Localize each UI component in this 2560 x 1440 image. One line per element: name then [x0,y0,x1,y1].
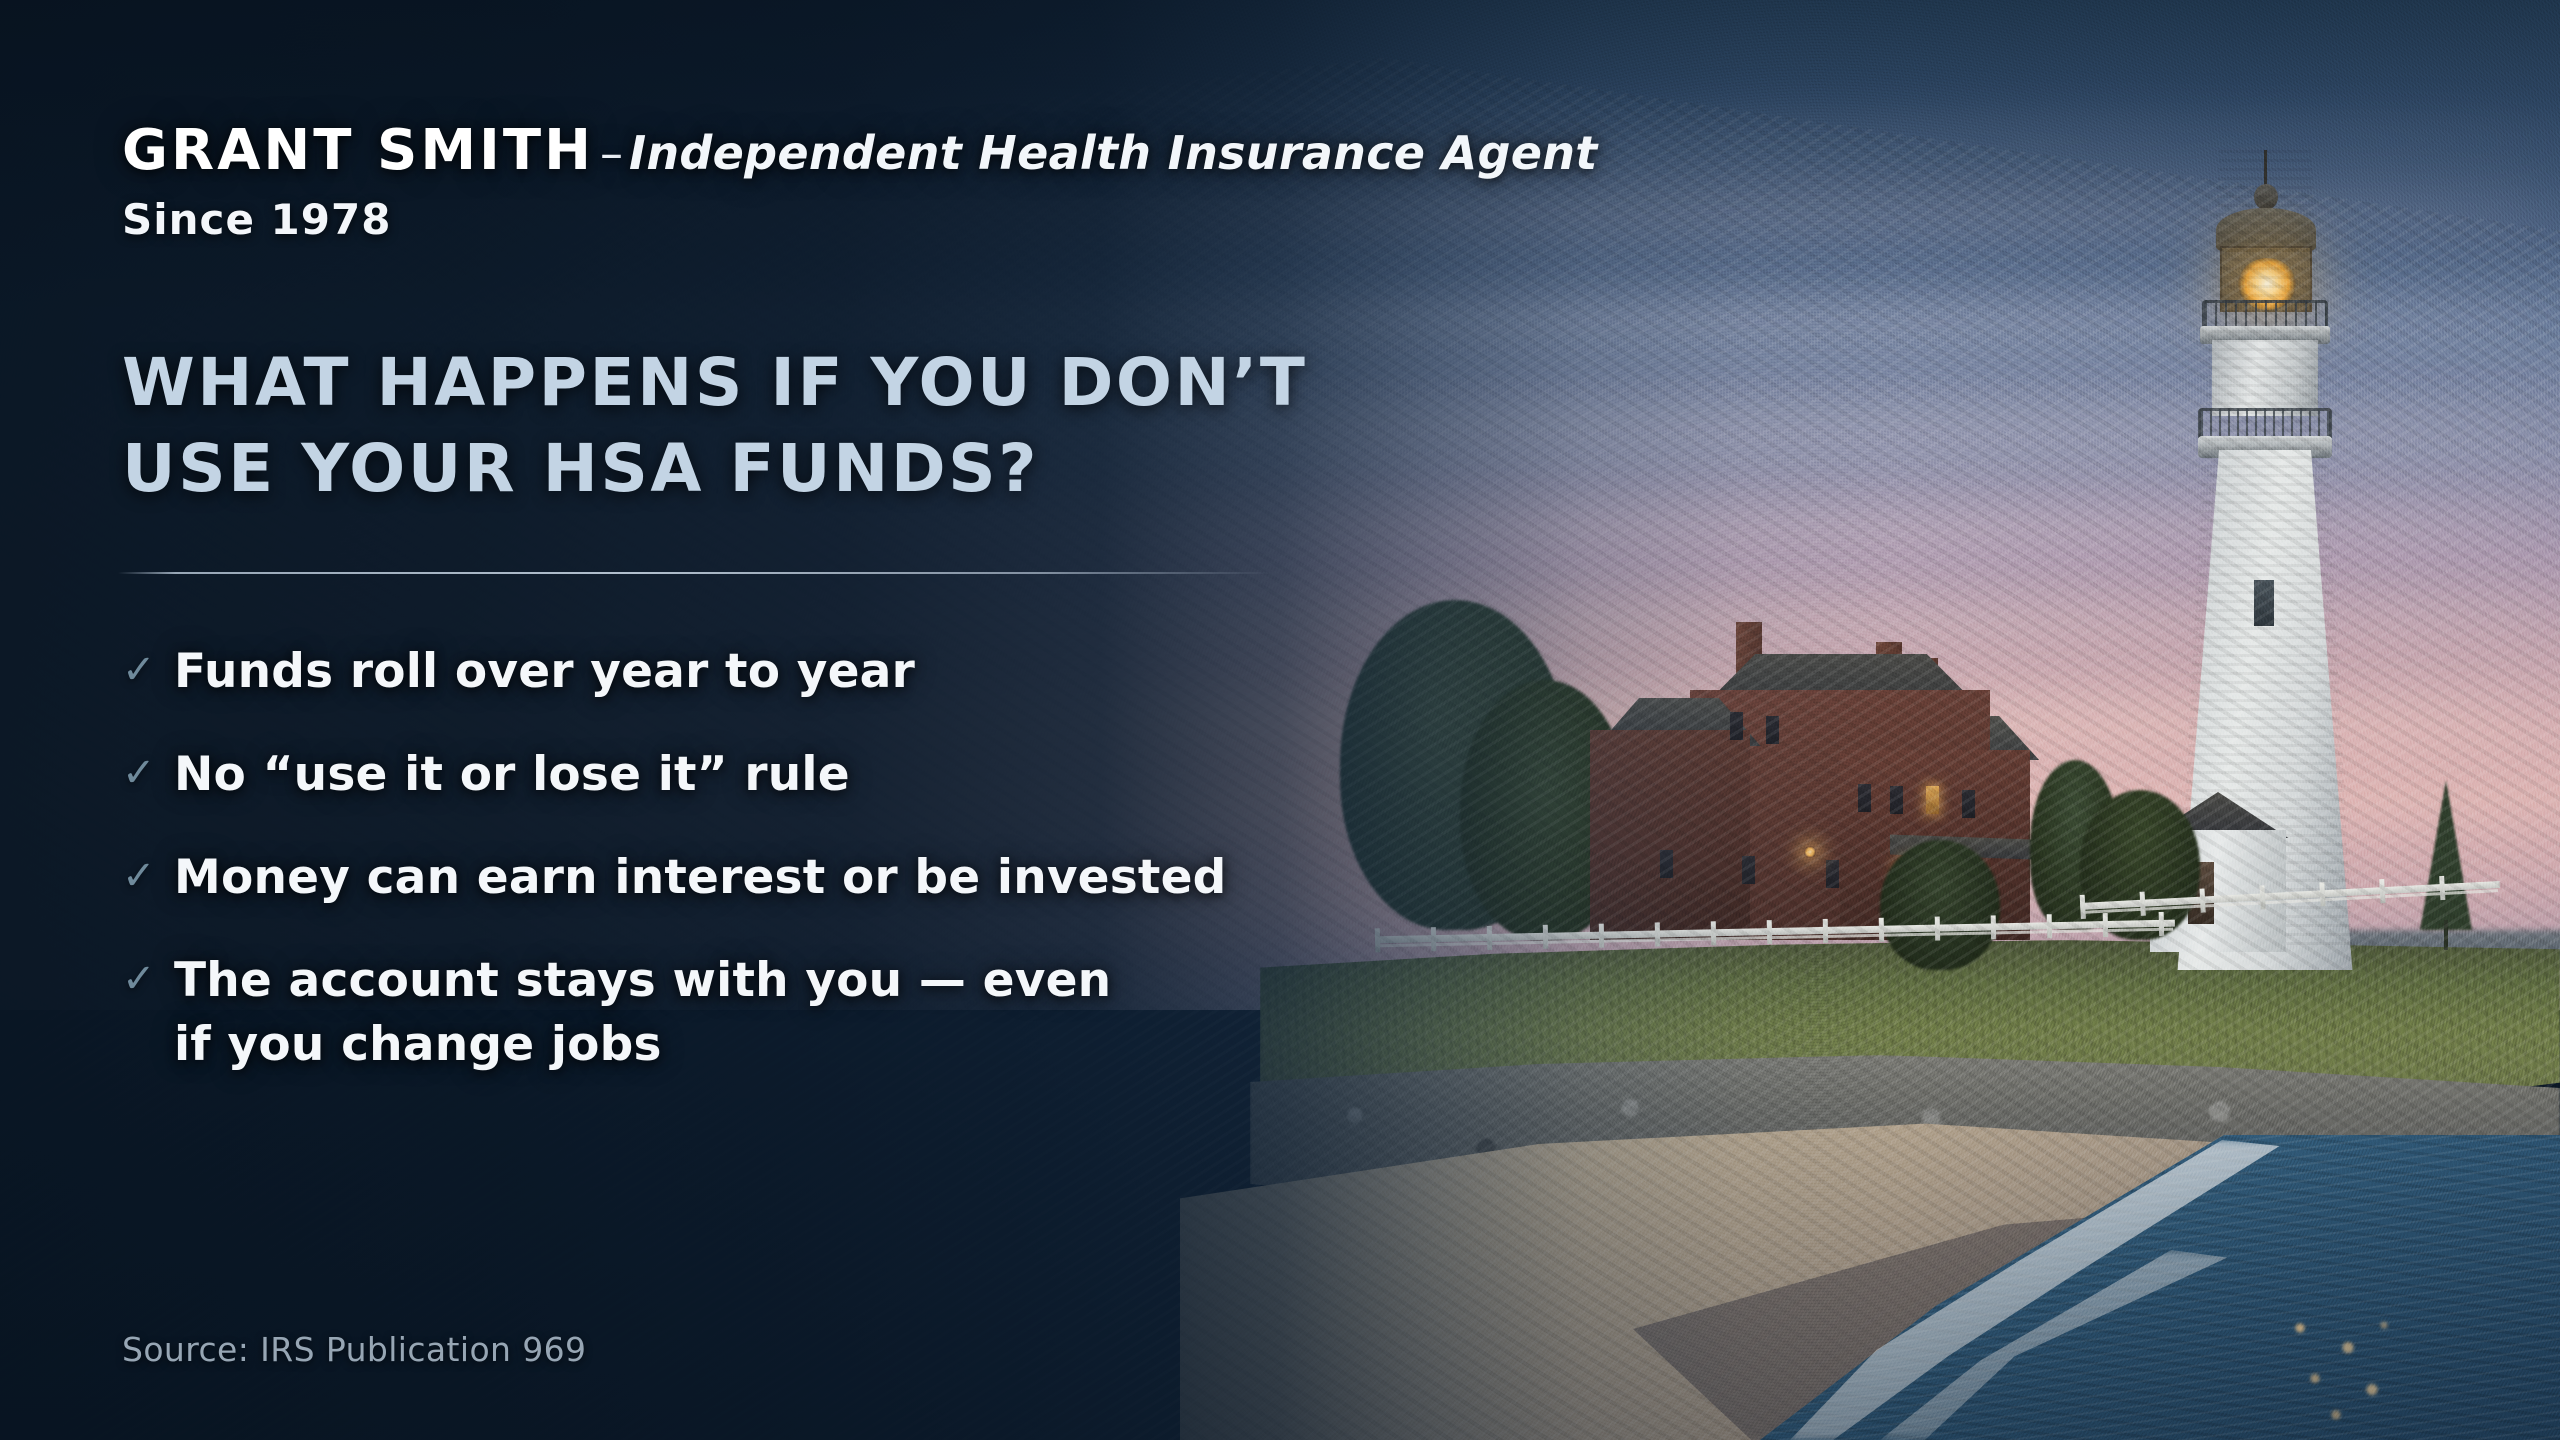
list-item-label: The account stays with you — even if you… [174,949,1111,1079]
list-item: ✓ The account stays with you — even if y… [122,949,1302,1079]
benefits-list: ✓ Funds roll over year to year ✓ No “use… [122,640,1302,1116]
agent-dash: – [594,126,629,180]
page-title-line-1: WHAT HAPPENS IF YOU DON’T [122,340,1307,426]
list-item: ✓ No “use it or lose it” rule [122,743,1302,808]
horizontal-divider [118,572,1273,574]
agent-role: Independent Health Insurance Agent [629,126,1598,180]
list-item-label: Funds roll over year to year [174,640,915,705]
agent-header: GRANT SMITH–Independent Health Insurance… [122,118,1598,183]
list-item-label: No “use it or lose it” rule [174,743,850,808]
check-icon: ✓ [122,650,174,690]
list-item-label: Money can earn interest or be invested [174,846,1227,911]
list-item: ✓ Money can earn interest or be invested [122,846,1302,911]
check-icon: ✓ [122,959,174,999]
slide-content: GRANT SMITH–Independent Health Insurance… [0,0,2560,1440]
check-icon: ✓ [122,753,174,793]
page-title: WHAT HAPPENS IF YOU DON’T USE YOUR HSA F… [122,340,1307,512]
source-citation: Source: IRS Publication 969 [122,1330,586,1369]
check-icon: ✓ [122,856,174,896]
presentation-slide: GRANT SMITH–Independent Health Insurance… [0,0,2560,1440]
page-title-line-2: USE YOUR HSA FUNDS? [122,426,1307,512]
agent-since: Since 1978 [122,195,391,244]
agent-name: GRANT SMITH [122,118,594,183]
list-item: ✓ Funds roll over year to year [122,640,1302,705]
